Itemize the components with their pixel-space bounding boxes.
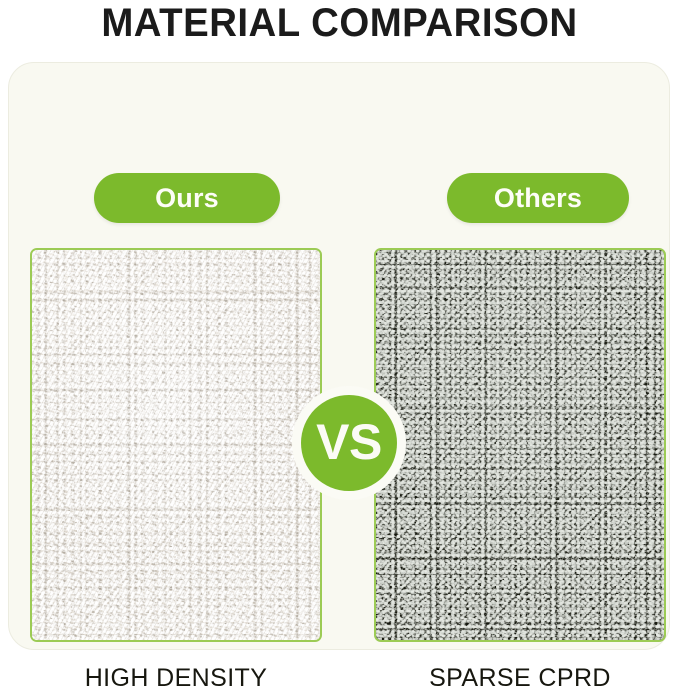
page-title: MATERIAL COMPARISON (14, 0, 666, 48)
comparison-card: Ours Others VS HIGH DENSITY SPARSE CPRD (8, 62, 670, 650)
caption-high-density: HIGH DENSITY (30, 661, 322, 695)
badge-others: Others (447, 173, 629, 223)
badge-ours-label: Ours (155, 183, 219, 214)
sparse-cprd-material-swatch (374, 248, 666, 642)
high-density-material-swatch (30, 248, 322, 642)
vs-circle: VS (301, 395, 397, 491)
caption-sparse-cprd: SPARSE CPRD (374, 661, 666, 695)
vs-divider-badge: VS (292, 386, 406, 500)
dark-fiber-texture (376, 250, 664, 640)
badge-others-label: Others (494, 183, 582, 214)
comparison-graphic: MATERIAL COMPARISON Ours Others VS HIGH … (0, 0, 679, 665)
light-fiber-texture (32, 250, 320, 640)
badge-ours: Ours (94, 173, 280, 223)
vs-label: VS (316, 417, 382, 467)
